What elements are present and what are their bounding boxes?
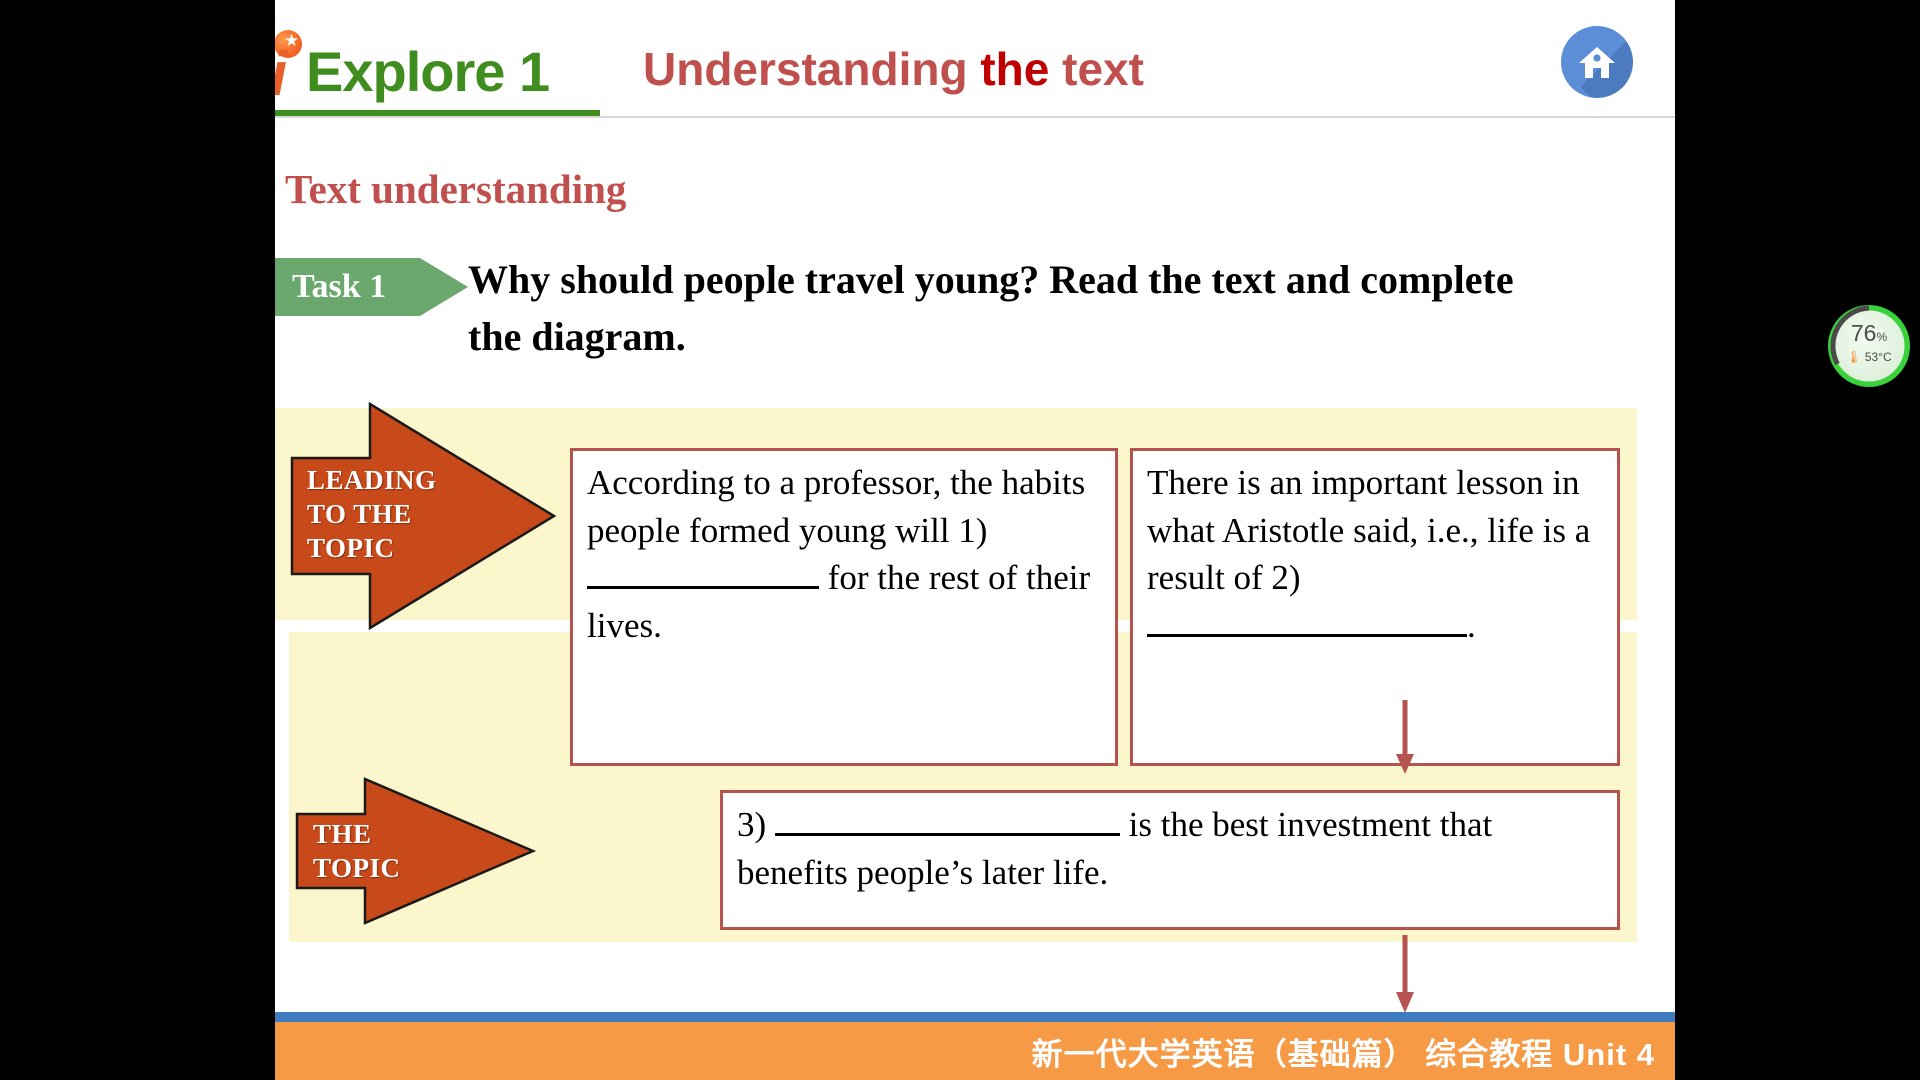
gauge-temperature: 🌡 53°C — [1833, 350, 1905, 364]
leading-to-topic-label: LEADING TO THE TOPIC — [307, 464, 457, 565]
header-title: Understanding the text — [643, 44, 1144, 94]
connector-arrow-1 — [1393, 700, 1417, 778]
thermometer-icon: 🌡 — [1846, 350, 1861, 364]
logo-letter-i: i — [275, 44, 287, 106]
footer-text: 新一代大学英语（基础篇） 综合教程 Unit 4 — [1032, 1029, 1655, 1074]
gauge-percent: 76% — [1833, 322, 1905, 349]
slide-header: ★ i Explore 1 Understanding the text — [275, 0, 1675, 118]
logo-word: Explore 1 — [306, 42, 549, 102]
slide-canvas: ★ i Explore 1 Understanding the text T — [275, 0, 1675, 1080]
the-topic-label: THE TOPIC — [313, 818, 433, 886]
header-title-part1: Understanding — [643, 43, 968, 95]
diagram-box-2: There is an important lesson in what Ari… — [1130, 448, 1620, 766]
box1-text-before: According to a professor, the habits peo… — [587, 463, 1085, 550]
box3-text-after: is the best investment that benefits peo… — [737, 805, 1492, 892]
gauge-percent-unit: % — [1876, 330, 1887, 344]
box1-blank[interactable] — [587, 586, 819, 589]
task-tag: Task 1 — [275, 258, 468, 316]
footer-bar: 新一代大学英语（基础篇） 综合教程 Unit 4 — [275, 1022, 1675, 1080]
header-title-part2: the — [980, 43, 1049, 95]
gauge-temperature-value: 53°C — [1865, 350, 1892, 364]
box2-text-after: . — [1467, 606, 1476, 645]
connector-arrow-2 — [1393, 935, 1417, 1015]
header-title-part3: text — [1062, 43, 1144, 95]
box1-text-after: for the rest of their lives. — [587, 558, 1090, 645]
box2-blank[interactable] — [1147, 634, 1467, 637]
task-question: Why should people travel young? Read the… — [468, 252, 1528, 366]
gauge-percent-value: 76 — [1851, 320, 1877, 346]
home-icon — [1576, 41, 1618, 83]
the-topic-label-text: THE TOPIC — [313, 818, 433, 886]
diagram-box-1: According to a professor, the habits peo… — [570, 448, 1118, 766]
box3-text-before: 3) — [737, 805, 766, 844]
down-arrow-icon-2 — [1393, 935, 1417, 1015]
box3-blank[interactable] — [775, 833, 1120, 836]
header-divider — [275, 116, 1675, 118]
section-title: Text understanding — [275, 165, 1675, 213]
down-arrow-icon-1 — [1393, 700, 1417, 778]
system-monitor-gauge[interactable]: 76% 🌡 53°C — [1833, 310, 1905, 382]
iexplore-logo: ★ i Explore 1 — [275, 30, 600, 110]
screen: ★ i Explore 1 Understanding the text T — [0, 0, 1920, 1080]
task-tag-label: Task 1 — [292, 268, 386, 306]
leading-to-topic-label-text: LEADING TO THE TOPIC — [307, 464, 457, 565]
home-button[interactable] — [1561, 26, 1633, 98]
diagram-box-3: 3) is the best investment that benefits … — [720, 790, 1620, 930]
box2-text-before: There is an important lesson in what Ari… — [1147, 463, 1590, 597]
section-title-text: Text understanding — [277, 166, 626, 212]
